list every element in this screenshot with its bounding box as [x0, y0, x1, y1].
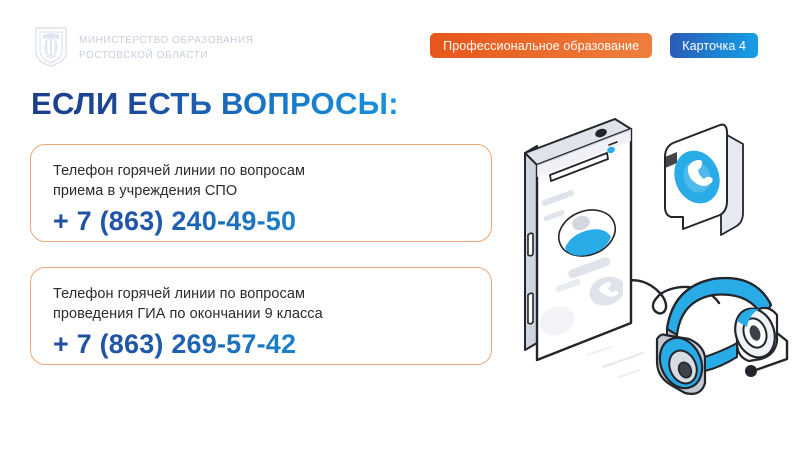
smartphone-isometric-icon — [525, 119, 643, 377]
page-header: МИНИСТЕРСТВО ОБРАЗОВАНИЯ РОСТОВСКОЙ ОБЛА… — [0, 0, 800, 80]
hotline-card-gia: Телефон горячей линии по вопросам провед… — [30, 267, 492, 365]
isometric-support-call-illustration — [515, 105, 800, 395]
ministry-line-1: МИНИСТЕРСТВО ОБРАЗОВАНИЯ — [79, 35, 254, 47]
page-title: ЕСЛИ ЕСТЬ ВОПРОСЫ: — [31, 85, 399, 123]
header-badges: Профессиональное образование Карточка 4 — [430, 33, 758, 58]
speech-bubble-phone-icon — [665, 125, 743, 235]
headset-headphones-icon — [652, 278, 787, 395]
ministry-branding: МИНИСТЕРСТВО ОБРАЗОВАНИЯ РОСТОВСКОЙ ОБЛА… — [34, 26, 254, 68]
badge-card-number[interactable]: Карточка 4 — [670, 33, 758, 58]
ministry-title: МИНИСТЕРСТВО ОБРАЗОВАНИЯ РОСТОВСКОЙ ОБЛА… — [79, 33, 254, 62]
hotline-spo-label-line-2: приема в учреждения СПО — [53, 181, 471, 201]
hotline-gia-phone-number[interactable]: + 7 (863) 269-57-42 — [53, 327, 471, 361]
hotline-gia-label-line-2: проведения ГИА по окончании 9 класса — [53, 304, 471, 324]
hotline-spo-phone-number[interactable]: + 7 (863) 240-49-50 — [53, 204, 471, 238]
hotline-spo-label-line-1: Телефон горячей линии по вопросам — [53, 161, 471, 181]
hotline-gia-label-line-1: Телефон горячей линии по вопросам — [53, 284, 471, 304]
hotline-card-spo: Телефон горячей линии по вопросам приема… — [30, 144, 492, 242]
badge-professional-education[interactable]: Профессиональное образование — [430, 33, 652, 58]
ministry-line-2: РОСТОВСКОЙ ОБЛАСТИ — [79, 50, 254, 62]
coat-of-arms-rostov-region-icon — [34, 26, 68, 68]
